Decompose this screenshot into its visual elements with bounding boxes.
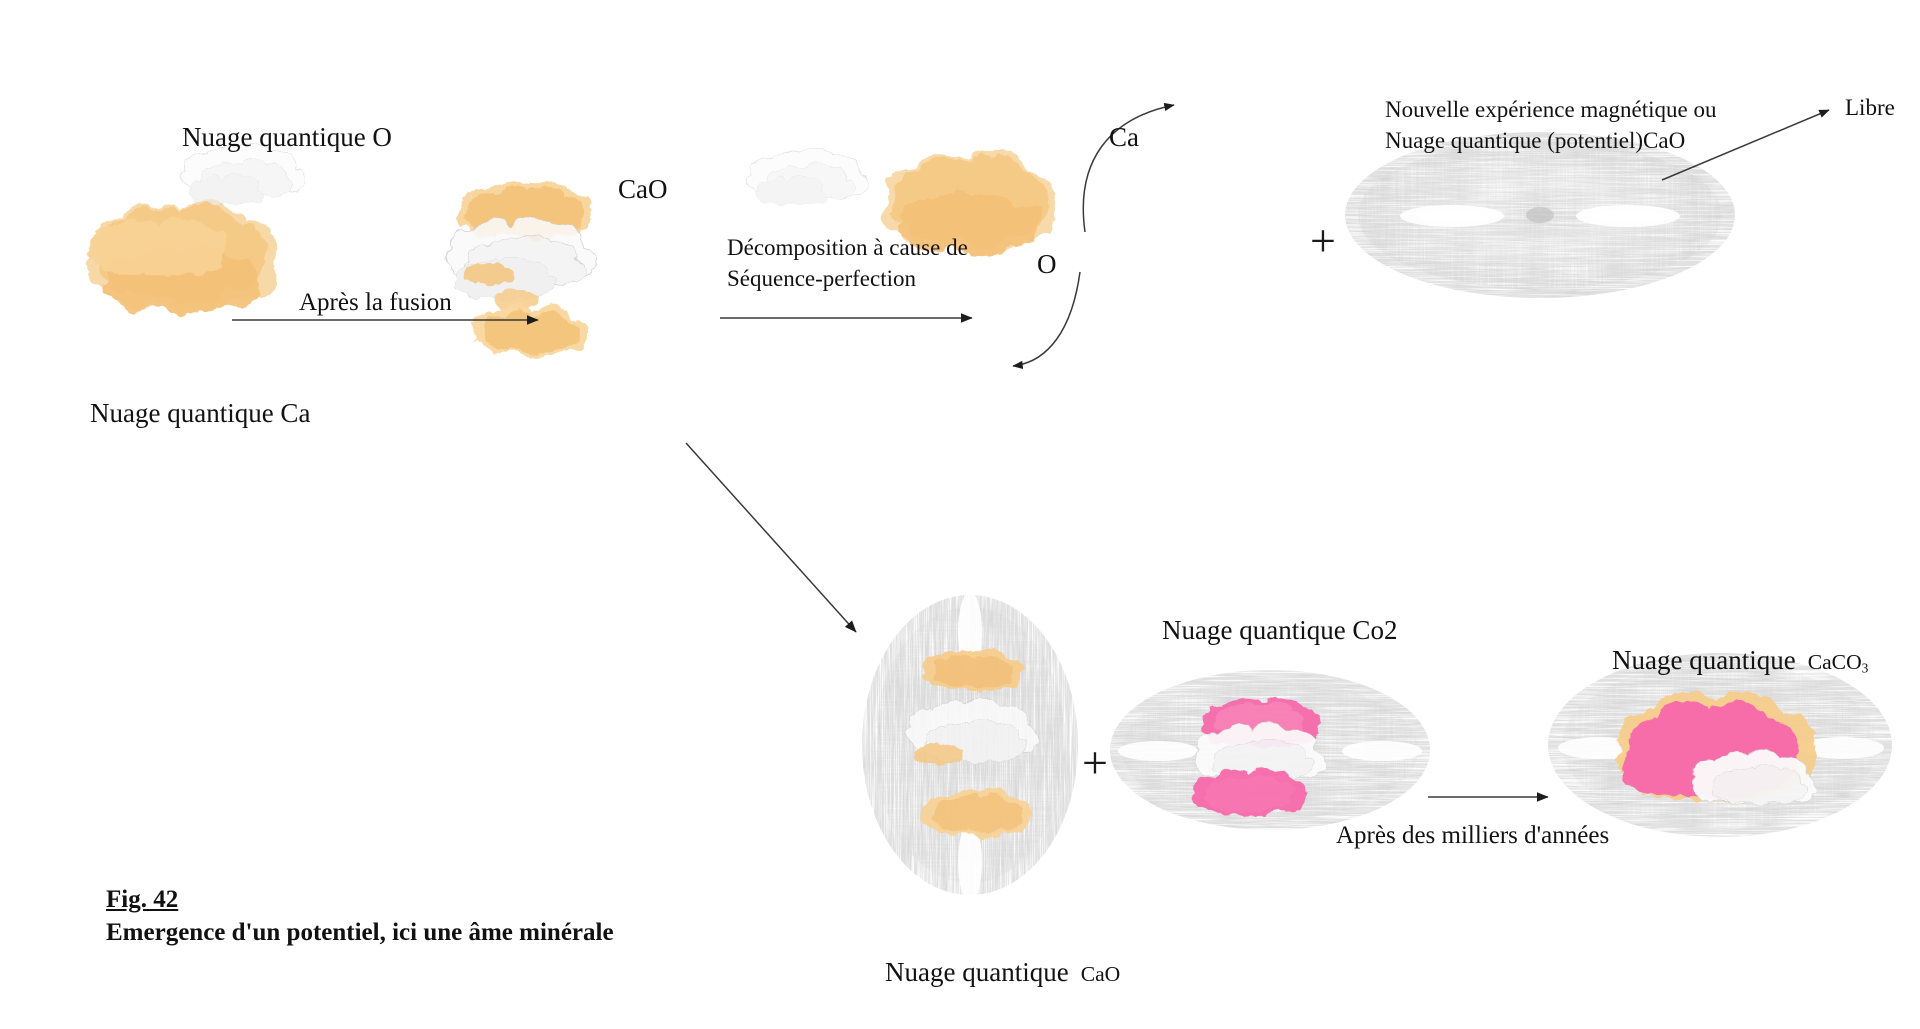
cloud-co2-horizontal-field (1110, 670, 1430, 830)
label-caco3-formula: CaCO3 (1808, 650, 1869, 674)
label-nuage-quantique-cao-bottom: Nuage quantiqueCaO (858, 920, 1120, 1024)
label-cao-top: CaO (618, 172, 668, 207)
label-ca-released: Ca (1109, 120, 1139, 155)
label-nuage-quantique-o: Nuage quantique O (182, 120, 392, 155)
label-cao-bottom-main: Nuage quantique (885, 957, 1069, 987)
diagram-canvas: Nuage quantique O Nuage quantique Ca CaO… (0, 0, 1920, 1029)
label-caco3-main: Nuage quantique (1612, 645, 1796, 675)
figure-number: Fig. 42 (106, 884, 614, 917)
label-decomposition-line1: Décomposition à cause de (727, 233, 968, 262)
label-o-released: O (1037, 247, 1057, 282)
label-nuage-quantique-co2: Nuage quantique Co2 (1162, 613, 1397, 648)
label-cao-bottom-formula: CaO (1081, 962, 1121, 986)
figure-caption: Fig. 42 Emergence d'un potentiel, ici un… (106, 884, 614, 949)
cloud-o-released (748, 148, 868, 204)
label-nuage-quantique-caco3: Nuage quantiqueCaCO3 (1585, 608, 1868, 712)
label-apres-la-fusion: Après la fusion (299, 287, 452, 319)
cloud-cao-bottom-vertical-field (862, 592, 1078, 902)
plus-sign-bottom: + (1082, 740, 1108, 786)
label-nouvelle-experience-line1: Nouvelle expérience magnétique ou (1385, 95, 1716, 124)
arrow-split-down (1013, 272, 1080, 366)
cloud-nuage-quantique-ca (87, 203, 278, 314)
label-nuage-quantique-ca: Nuage quantique Ca (90, 396, 310, 431)
arrow-cao-to-bottom (686, 443, 856, 632)
label-apres-des-milliers-dannees: Après des milliers d'années (1336, 820, 1609, 852)
label-decomposition-line2: Séquence-perfection (727, 264, 916, 293)
label-libre: Libre (1845, 93, 1895, 122)
magnetic-field-ellipse-cao-potential (1345, 132, 1735, 298)
figure-caption-text: Emergence d'un potentiel, ici une âme mi… (106, 919, 614, 946)
cloud-cao-fused (446, 182, 598, 357)
label-nouvelle-experience-line2: Nuage quantique (potentiel)CaO (1385, 126, 1685, 155)
plus-sign-top: + (1310, 218, 1336, 264)
